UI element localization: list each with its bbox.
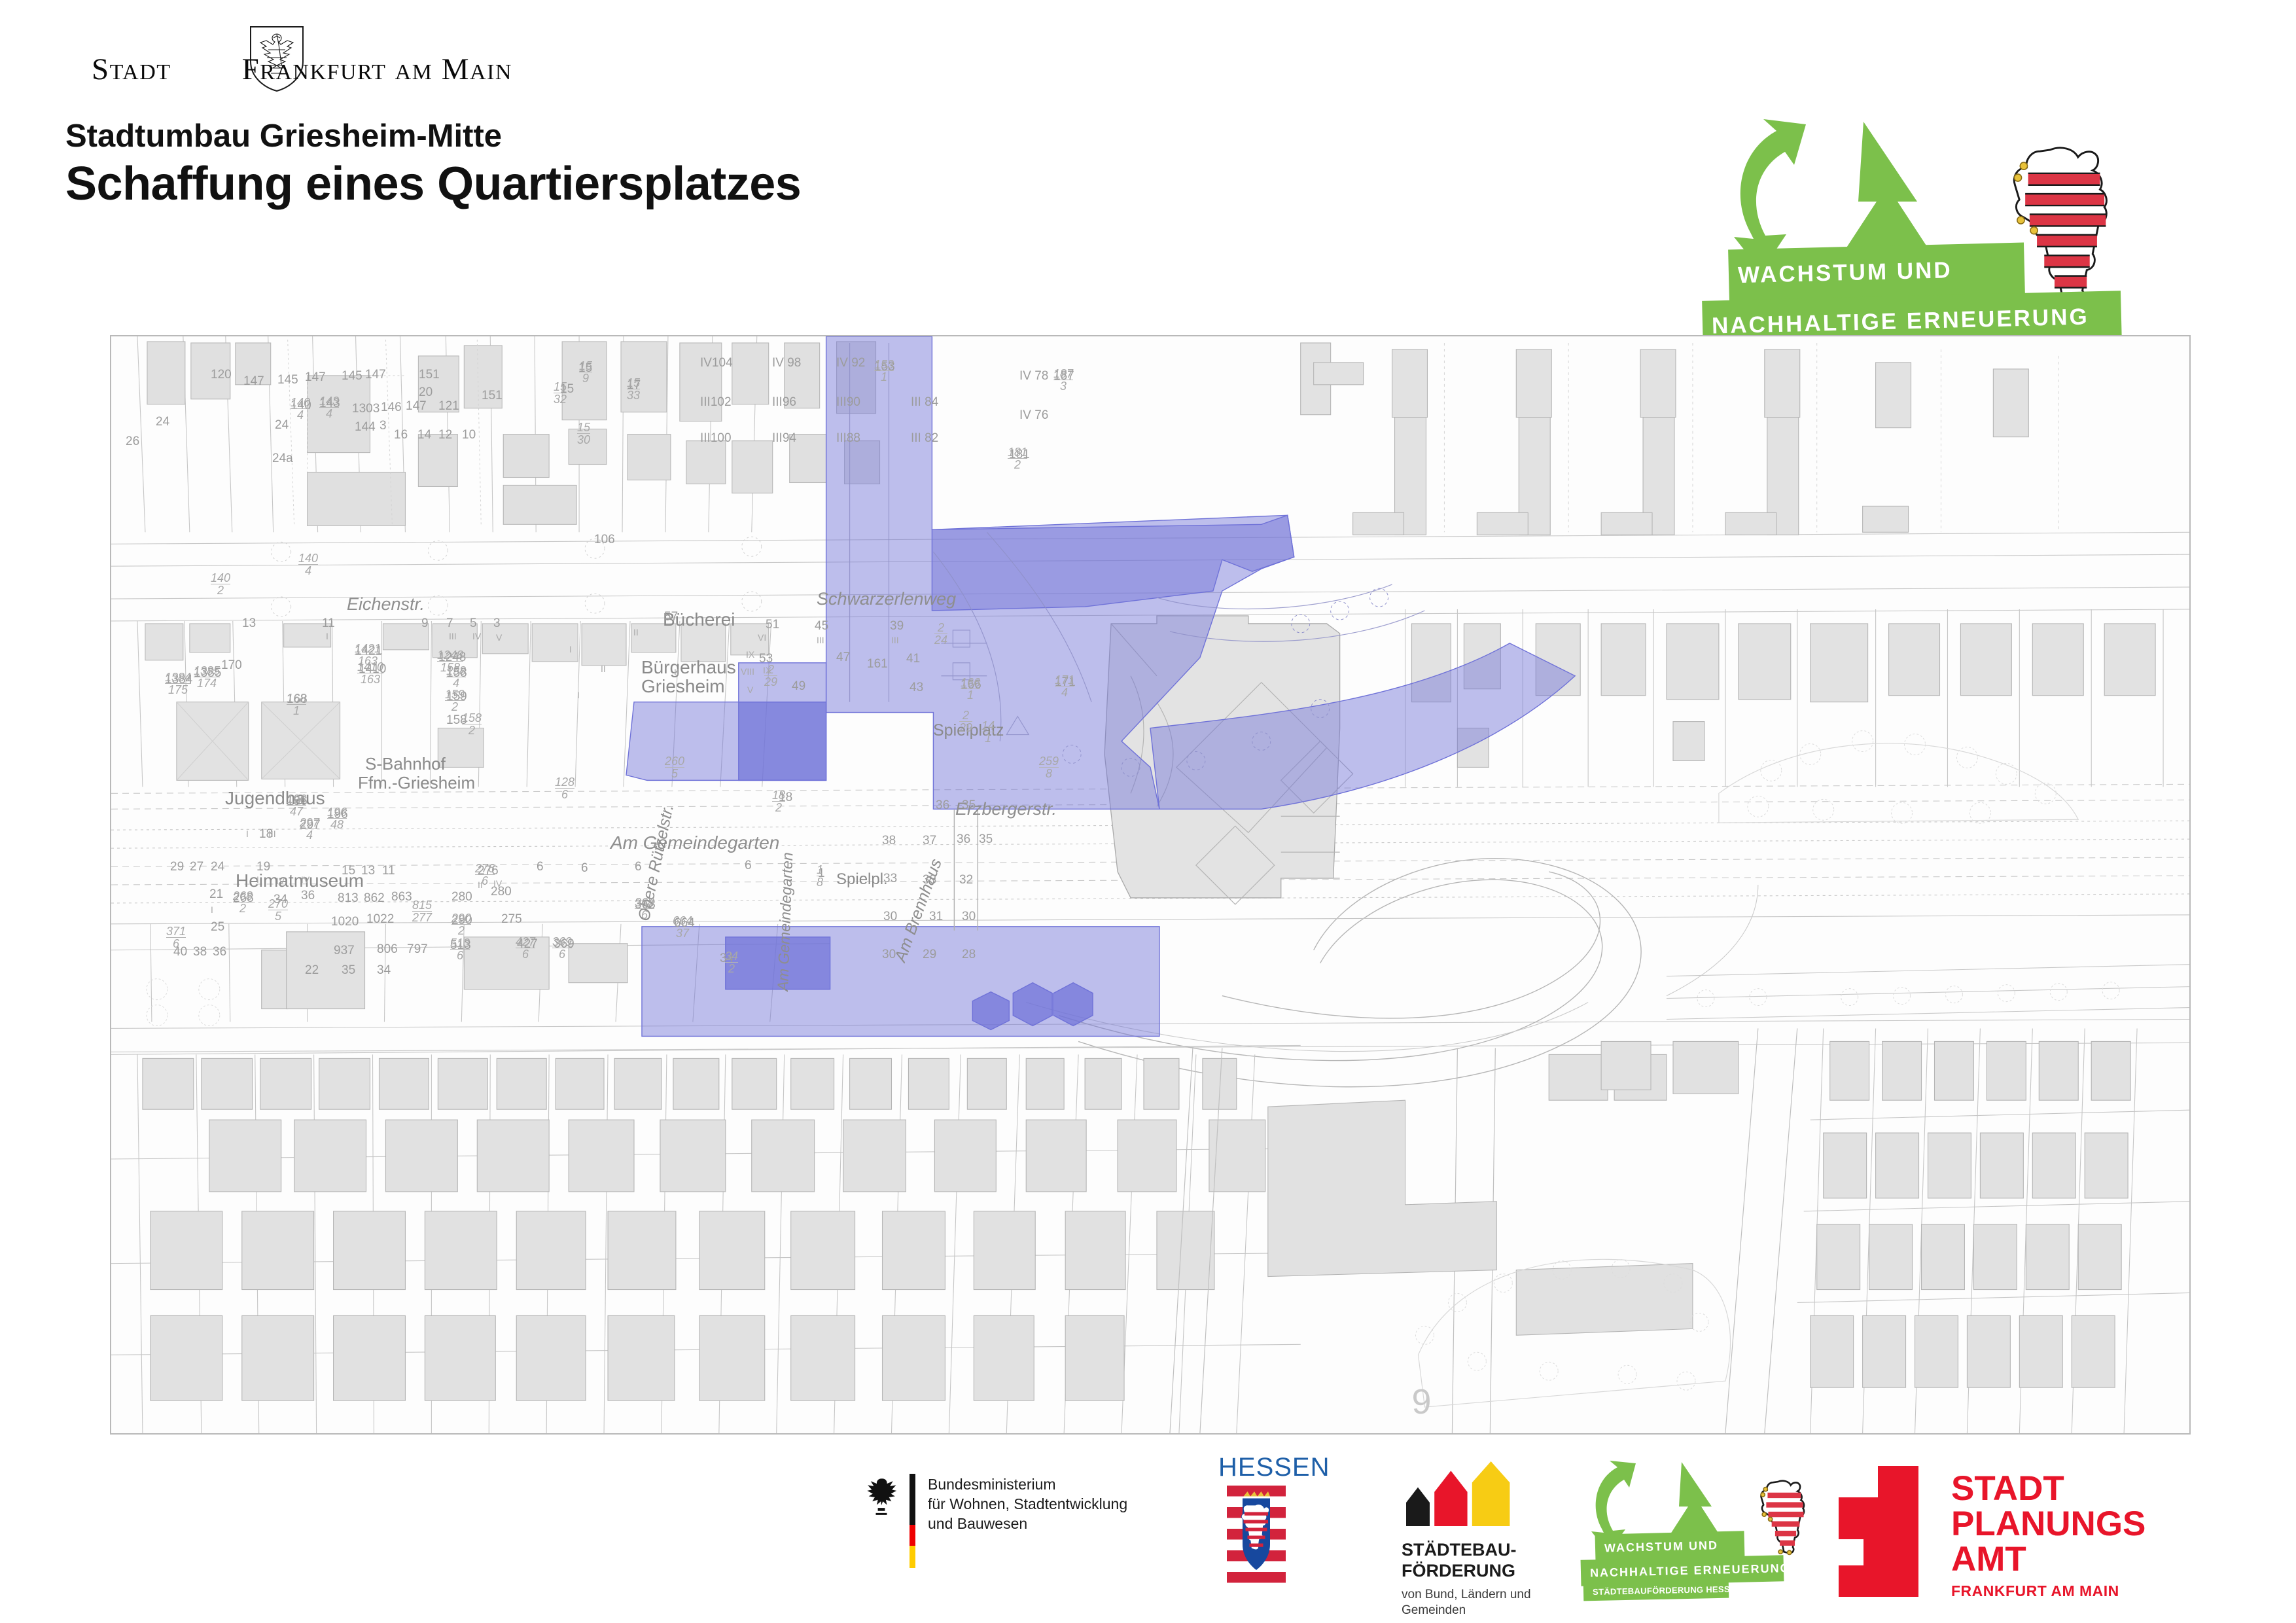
wordmark-ain: AIN — [470, 60, 512, 84]
cadastral-map[interactable]: 9 Eichenstr. Schwarzerlenweg Erzbergerst… — [110, 335, 2191, 1435]
page-title: Schaffung eines Quartiersplatzes — [65, 157, 801, 211]
german-flag-bar-gold — [910, 1546, 915, 1568]
stadtplanungsamt-line3: AMT — [1951, 1539, 2026, 1579]
stadtplanungsamt-logo: STADT PLANUNGS AMT FRANKFURT AM MAIN — [1832, 1466, 2172, 1597]
stadtplanungsamt-line4: FRANKFURT AM MAIN — [1951, 1582, 2119, 1600]
city-of-frankfurt-logo: STADTFRANKFURT AM MAIN — [92, 33, 510, 92]
wordmark-stadt: TADT — [110, 60, 171, 84]
wordmark-s: S — [92, 52, 110, 86]
funding-logos-footer: Bundesministerium für Wohnen, Stadtentwi… — [0, 1446, 2296, 1623]
staedtebaufoerderung-logo: STÄDTEBAU- FÖRDERUNG von Bund, Ländern u… — [1394, 1461, 1564, 1585]
brand-band-line1: WACHSTUM UND — [1728, 242, 2025, 302]
footer-brand-band-line3: STÄDTEBAUFÖRDERUNG HESSEN — [1583, 1580, 1729, 1601]
svg-text:9: 9 — [1411, 1382, 1431, 1421]
staedtebau-title-line2: FÖRDERUNG — [1402, 1560, 1515, 1582]
three-houses-icon — [1400, 1461, 1518, 1533]
staedtebau-sub-line1: von Bund, Ländern und — [1402, 1586, 1531, 1603]
bmwsb-line2: für Wohnen, Stadtentwicklung — [928, 1495, 1127, 1514]
hessen-logo: HESSEN — [1217, 1453, 1335, 1584]
hessen-flag-crest-icon — [1217, 1486, 1296, 1584]
stadtplanungsamt-mark-icon — [1832, 1466, 1937, 1597]
bmwsb-line1: Bundesministerium — [928, 1475, 1056, 1494]
wachstum-logo-footer: WACHSTUM UND NACHHALTIGE ERNEUERUNG STÄD… — [1583, 1459, 1826, 1590]
bmwsb-logo: Bundesministerium für Wohnen, Stadtentwi… — [864, 1471, 1171, 1569]
bmwsb-line3: und Bauwesen — [928, 1514, 1027, 1533]
wordmark-am: AM — [395, 60, 433, 84]
hessen-wordmark: HESSEN — [1218, 1453, 1330, 1482]
poster-page: STADTFRANKFURT AM MAIN Stadtumbau Griesh… — [0, 0, 2296, 1623]
stadtplanungsamt-line2: PLANUNGS — [1951, 1504, 2146, 1544]
hessen-lion-icon — [2014, 148, 2106, 309]
staedtebau-sub-line2: Gemeinden — [1402, 1602, 1466, 1618]
map-vector-layer: 9 — [111, 336, 2189, 1433]
german-flag-bar-red — [910, 1525, 915, 1546]
wordmark-f: F — [242, 52, 260, 86]
staedtebau-title-line1: STÄDTEBAU- — [1402, 1539, 1517, 1561]
wordmark-m: M — [442, 52, 470, 86]
stadtplanungsamt-line1: STADT — [1951, 1469, 2064, 1508]
german-flag-bar-icon — [910, 1474, 915, 1525]
bundesadler-icon — [864, 1476, 899, 1522]
wordmark-rankfurt: RANKFURT — [260, 60, 386, 84]
project-subtitle: Stadtumbau Griesheim-Mitte — [65, 118, 502, 154]
city-wordmark: STADTFRANKFURT AM MAIN — [92, 50, 510, 89]
